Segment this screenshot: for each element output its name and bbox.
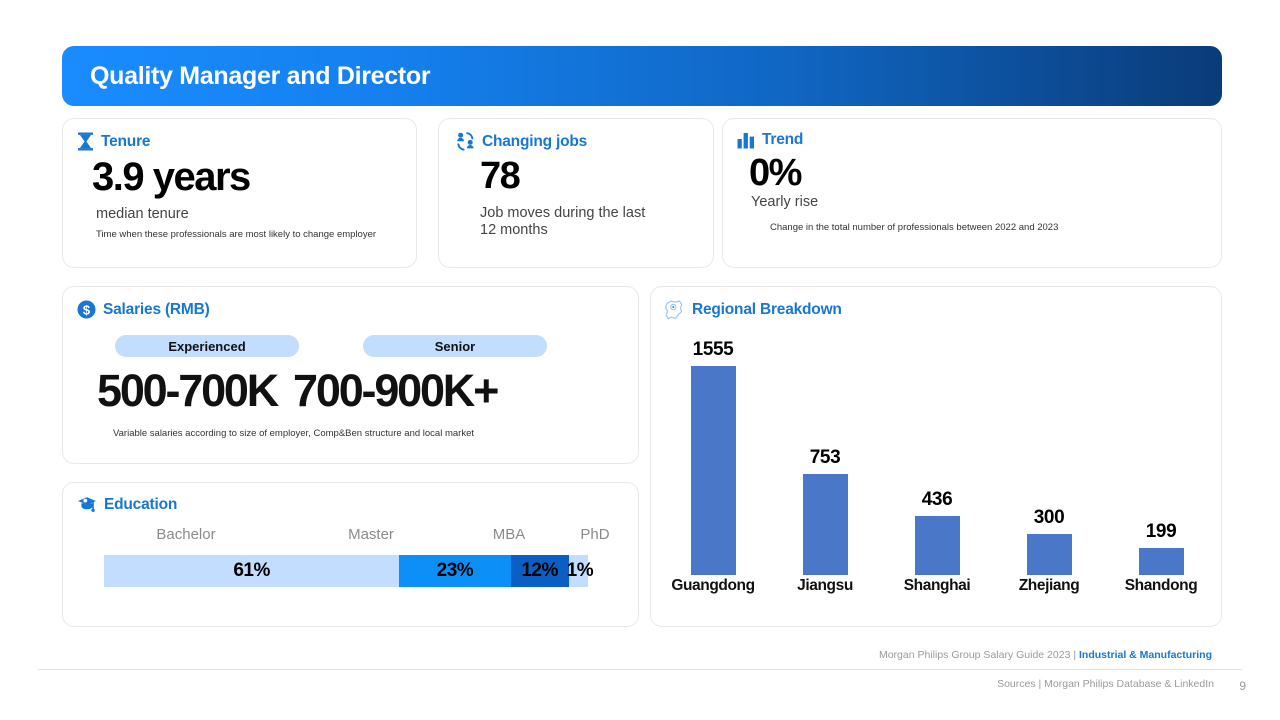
trend-subtitle: Yearly rise [751,194,1221,211]
edu-label-mba: MBA [493,526,526,543]
bar-value-shanghai: 436 [922,489,953,511]
card-salaries-title: Salaries (RMB) [103,301,210,319]
salary-values: 500-700K 700-900K+ [97,368,638,413]
tenure-subtitle: median tenure [96,206,416,223]
card-changing-jobs-header: Changing jobs [456,132,713,151]
card-salaries: $ Salaries (RMB) Experienced Senior 500-… [62,286,639,464]
footer-source-line: Morgan Philips Group Salary Guide 2023 |… [879,649,1212,661]
card-education-header: Education [77,495,638,514]
changing-jobs-subtitle: Job moves during the last 12 months [480,205,660,239]
card-changing-jobs-title: Changing jobs [482,133,587,151]
bar-value-zhejiang: 300 [1034,507,1065,529]
edu-segment-master: 23% [399,555,510,587]
trend-note: Change in the total number of profession… [770,222,1221,235]
edu-label-bachelor: Bachelor [156,526,215,543]
card-tenure-header: Tenure [77,132,416,151]
hourglass-icon [77,132,94,151]
cat-shanghai: Shanghai [891,577,983,595]
cat-zhejiang: Zhejiang [1003,577,1095,595]
bar-chart-icon [737,132,755,149]
svg-text:$: $ [83,302,91,317]
salary-pill-experienced: Experienced [115,335,299,357]
card-regional-breakdown: Regional Breakdown 1555 753 436 300 [650,286,1222,627]
bar-value-jiangsu: 753 [810,447,841,469]
edu-percent-master: 23% [437,560,474,582]
card-changing-jobs: Changing jobs 78 Job moves during the la… [438,118,714,268]
bar-value-guangdong: 1555 [693,339,734,361]
salary-level-pills: Experienced Senior [115,335,638,357]
dollar-coin-icon: $ [77,300,96,319]
card-tenure-title: Tenure [101,133,150,151]
edu-segment-phd: 1% [569,555,588,587]
card-education-title: Education [104,496,177,514]
bar-shandong [1139,548,1184,575]
graduation-cap-icon [77,495,97,514]
card-regional-breakdown-title: Regional Breakdown [692,301,842,319]
bar-guangdong [691,366,736,575]
card-trend-header: Trend [737,131,1221,149]
bar-column-guangdong: 1555 [667,335,759,575]
education-stacked-bar: 61% 23% 12% 1% [104,555,588,587]
edu-segment-mba: 12% [511,555,569,587]
regional-categories: Guangdong Jiangsu Shanghai Zhejiang Shan… [657,577,1217,595]
map-icon [663,299,685,321]
footer-source-text: Morgan Philips Group Salary Guide 2023 | [879,649,1079,661]
cat-guangdong: Guangdong [667,577,759,595]
regional-bar-chart: 1555 753 436 300 199 [651,335,1223,617]
bar-jiangsu [803,474,848,575]
bar-column-shandong: 199 [1115,335,1207,575]
salary-pill-senior: Senior [363,335,547,357]
footer-sources: Sources | Morgan Philips Database & Link… [997,678,1214,690]
slide-header: Quality Manager and Director [62,46,1222,106]
edu-percent-phd: 1% [567,560,593,582]
card-regional-breakdown-header: Regional Breakdown [663,299,1221,321]
edu-percent-bachelor: 61% [233,560,270,582]
bar-column-shanghai: 436 [891,335,983,575]
card-tenure: Tenure 3.9 years median tenure Time when… [62,118,417,268]
bar-zhejiang [1027,534,1072,575]
page-title: Quality Manager and Director [90,62,430,91]
changing-jobs-value: 78 [480,157,713,195]
card-trend-title: Trend [762,131,803,149]
slide: Quality Manager and Director Tenure 3.9 … [0,0,1280,720]
trend-value: 0% [749,154,1221,192]
education-chart: Bachelor Master MBA PhD 61% 23% 12% 1% [63,526,638,604]
footer-source-strong: Industrial & Manufacturing [1079,649,1212,661]
bar-column-jiangsu: 753 [779,335,871,575]
people-exchange-icon [456,132,475,151]
salaries-note: Variable salaries according to size of e… [113,428,638,441]
cat-shandong: Shandong [1115,577,1207,595]
edu-segment-bachelor: 61% [104,555,399,587]
edu-label-phd: PhD [580,526,609,543]
card-education: Education Bachelor Master MBA PhD 61% 23… [62,482,639,627]
tenure-value: 3.9 years [92,157,416,197]
regional-bars: 1555 753 436 300 199 [657,335,1217,575]
salary-value-senior: 700-900K+ [293,368,497,413]
edu-label-master: Master [348,526,394,543]
card-salaries-header: $ Salaries (RMB) [77,300,638,319]
edu-percent-mba: 12% [521,560,558,582]
cat-jiangsu: Jiangsu [779,577,871,595]
card-trend: Trend 0% Yearly rise Change in the total… [722,118,1222,268]
footer-divider [38,669,1242,670]
tenure-note: Time when these professionals are most l… [96,229,396,242]
bar-shanghai [915,516,960,575]
bar-value-shandong: 199 [1146,521,1177,543]
salary-value-experienced: 500-700K [97,368,277,413]
page-number: 9 [1239,679,1246,693]
bar-column-zhejiang: 300 [1003,335,1095,575]
